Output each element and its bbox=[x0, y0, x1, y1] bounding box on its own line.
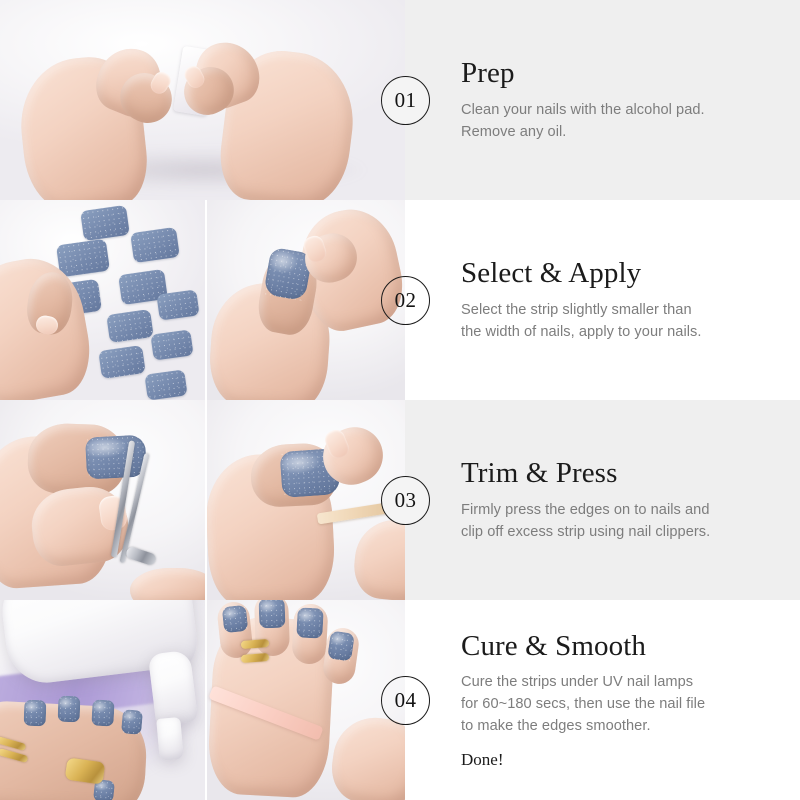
nail bbox=[24, 700, 47, 727]
step-title-02: Select & Apply bbox=[461, 257, 800, 289]
step-desc-line: to make the edges smoother. bbox=[461, 715, 800, 737]
photo-divider bbox=[205, 200, 207, 400]
step-description-01: Clean your nails with the alcohol pad. R… bbox=[461, 99, 800, 143]
photo-applying-strip-to-thumb-nail bbox=[205, 200, 405, 400]
photo-trimming-excess-strip-with-clippers bbox=[0, 400, 205, 600]
step-number-04: 04 bbox=[395, 690, 417, 711]
nail-strip bbox=[144, 369, 187, 400]
step-desc-line: Firmly press the edges on to nails and bbox=[461, 499, 800, 521]
nail-strip bbox=[156, 289, 199, 320]
photo-hand-holding-nail-strip-sheet bbox=[0, 200, 205, 400]
nail-strip bbox=[130, 227, 180, 263]
nail bbox=[91, 699, 114, 726]
photo-zone-04 bbox=[0, 600, 405, 800]
step-row-01: Prep Clean your nails with the alcohol p… bbox=[0, 0, 800, 200]
step-description-03: Firmly press the edges on to nails and c… bbox=[461, 499, 800, 543]
photo-zone-03 bbox=[0, 400, 405, 600]
text-zone-04: Cure & Smooth Cure the strips under UV n… bbox=[405, 600, 800, 800]
photo-pressing-edges-with-cuticle-stick bbox=[205, 400, 405, 600]
step-title-04: Cure & Smooth bbox=[461, 630, 800, 662]
step-row-02: Select & Apply Select the strip slightly… bbox=[0, 200, 800, 400]
photo-divider bbox=[205, 600, 207, 800]
uv-lamp-leg bbox=[156, 717, 184, 761]
step-row-03: Trim & Press Firmly press the edges on t… bbox=[0, 400, 800, 600]
step-badge-03: 03 bbox=[381, 476, 430, 525]
photo-filing-nail-edges-with-nail-file bbox=[205, 600, 405, 800]
step-number-01: 01 bbox=[395, 90, 417, 111]
text-zone-02: Select & Apply Select the strip slightly… bbox=[405, 200, 800, 400]
done-note: Done! bbox=[461, 750, 800, 770]
step-desc-line: the width of nails, apply to your nails. bbox=[461, 321, 800, 343]
nail-strip bbox=[80, 205, 130, 241]
step-badge-02: 02 bbox=[381, 276, 430, 325]
step-desc-line: for 60~180 secs, then use the nail file bbox=[461, 693, 800, 715]
step-desc-line: Cure the strips under UV nail lamps bbox=[461, 671, 800, 693]
step-description-04: Cure the strips under UV nail lamps for … bbox=[461, 671, 800, 738]
step-row-04: Cure & Smooth Cure the strips under UV n… bbox=[0, 600, 800, 800]
nail bbox=[258, 600, 285, 628]
text-zone-03: Trim & Press Firmly press the edges on t… bbox=[405, 400, 800, 600]
nail bbox=[222, 605, 249, 633]
step-title-03: Trim & Press bbox=[461, 457, 800, 489]
text-zone-01: Prep Clean your nails with the alcohol p… bbox=[405, 0, 800, 200]
nail bbox=[58, 696, 81, 723]
photo-zone-01 bbox=[0, 0, 405, 200]
nail bbox=[296, 607, 324, 638]
step-desc-line: Remove any oil. bbox=[461, 121, 800, 143]
step-title-01: Prep bbox=[461, 57, 800, 89]
nail-with-strip bbox=[85, 434, 147, 479]
nail bbox=[121, 709, 143, 735]
step-description-02: Select the strip slightly smaller than t… bbox=[461, 299, 800, 343]
step-number-03: 03 bbox=[395, 490, 417, 511]
step-desc-line: clip off excess strip using nail clipper… bbox=[461, 521, 800, 543]
photo-two-hands-holding-alcohol-pad bbox=[0, 0, 405, 200]
nail bbox=[327, 630, 355, 661]
step-desc-line: Clean your nails with the alcohol pad. bbox=[461, 99, 800, 121]
step-number-02: 02 bbox=[395, 290, 417, 311]
nail-strip-instruction-infographic: Prep Clean your nails with the alcohol p… bbox=[0, 0, 800, 800]
step-badge-04: 04 bbox=[381, 676, 430, 725]
photo-divider bbox=[205, 400, 207, 600]
step-badge-01: 01 bbox=[381, 76, 430, 125]
photo-zone-02 bbox=[0, 200, 405, 400]
photo-hand-curing-under-uv-lamp bbox=[0, 600, 205, 800]
nail-strip bbox=[150, 329, 193, 360]
step-desc-line: Select the strip slightly smaller than bbox=[461, 299, 800, 321]
